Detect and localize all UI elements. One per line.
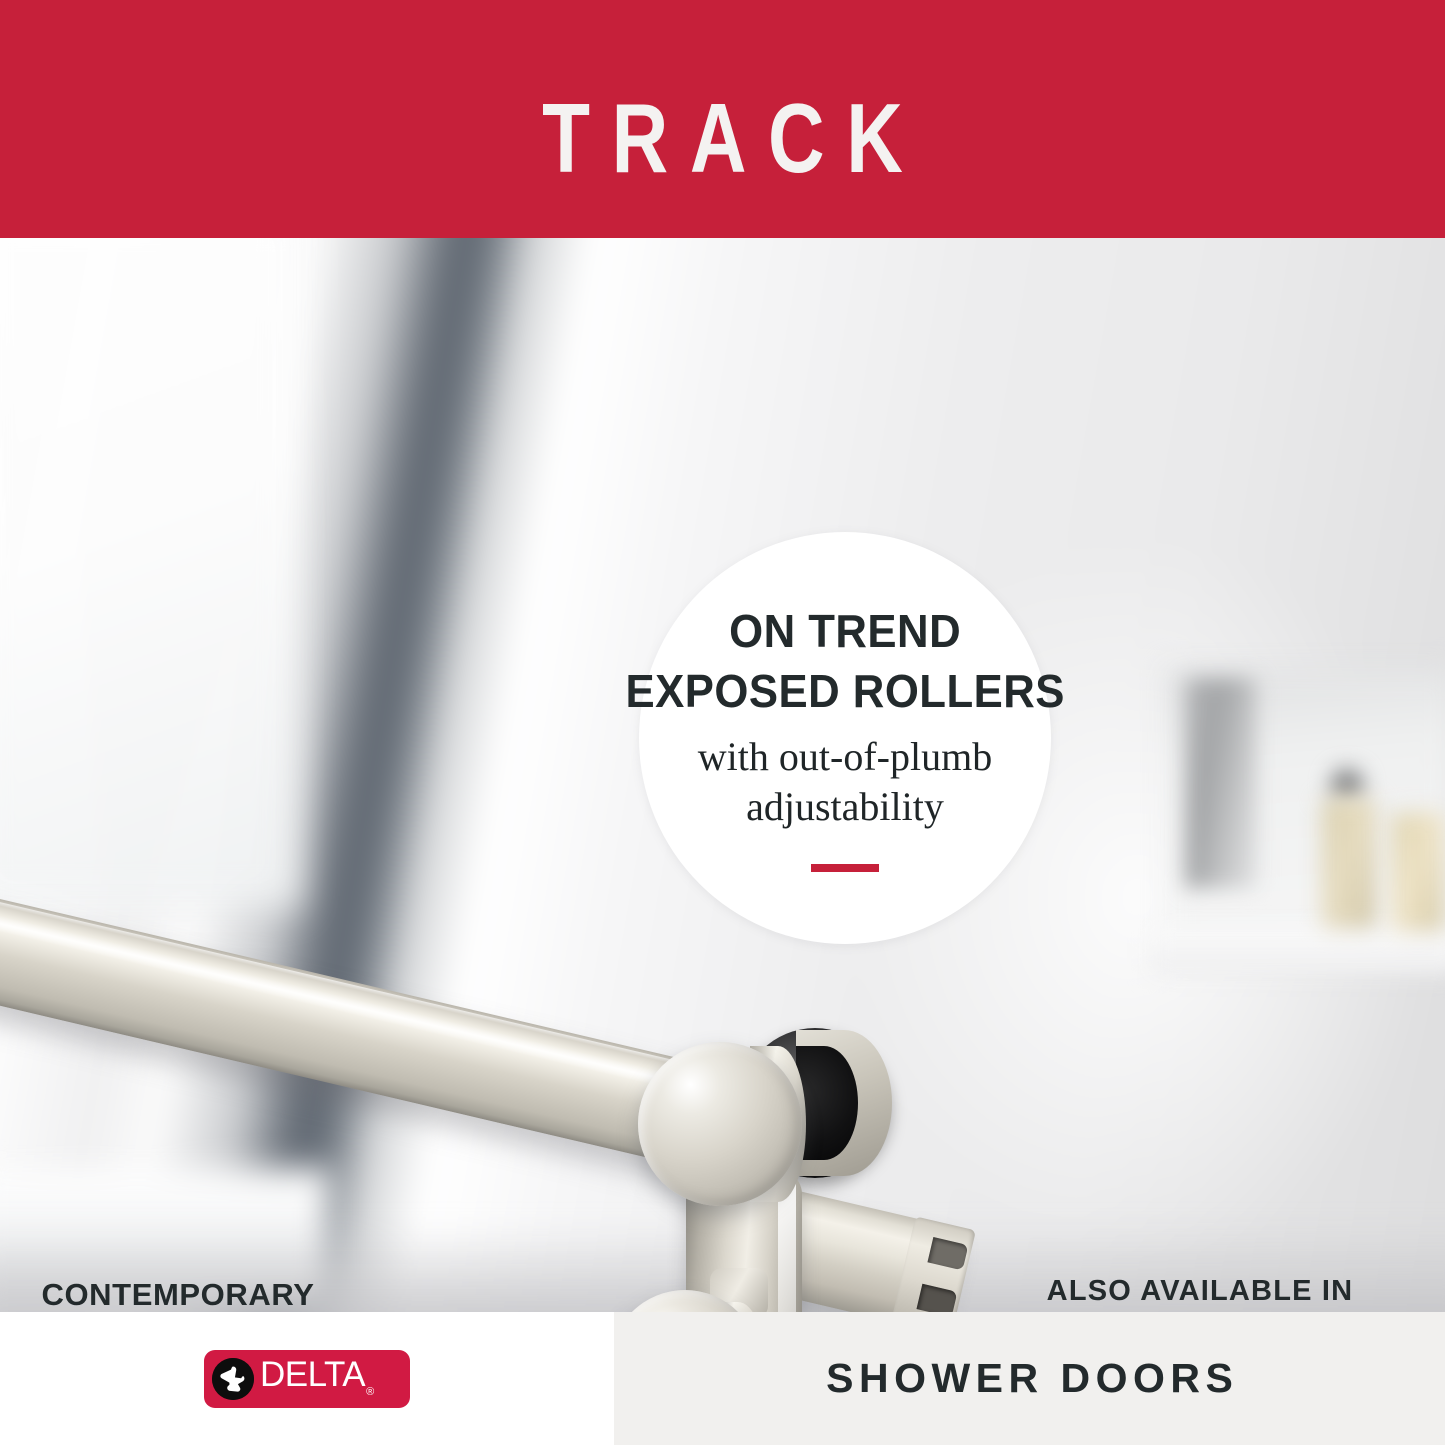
track-finish-caption: CONTEMPORARY TRACK IN BRUSHED NICKEL	[18, 1276, 338, 1312]
badge-subhead-line-2: adjustability	[746, 782, 944, 832]
finishes-title: ALSO AVAILABLE IN	[1000, 1274, 1400, 1308]
background-window	[0, 238, 300, 908]
feature-callout-badge: ON TREND EXPOSED ROLLERS with out-of-plu…	[639, 532, 1051, 944]
footer-brand-area: DELTA®	[0, 1312, 614, 1445]
background-bottle-amber-2	[1392, 813, 1444, 931]
badge-subhead-line-1: with out-of-plumb	[698, 732, 992, 782]
header-banner: TRACK	[0, 0, 1445, 238]
background-shelf	[1150, 928, 1445, 974]
badge-red-rule	[811, 864, 879, 872]
badge-headline-line-2: EXPOSED ROLLERS	[625, 664, 1064, 718]
exposed-roller-assembly	[600, 1020, 980, 1312]
upper-roller-disc	[638, 1042, 802, 1206]
background-bottle-amber-1	[1322, 798, 1376, 928]
delta-brand-text: DELTA	[260, 1355, 365, 1394]
background-bottle-cap	[1330, 768, 1364, 802]
page-title: TRACK	[145, 88, 1301, 188]
delta-wordmark: DELTA®	[260, 1357, 373, 1401]
delta-logo[interactable]: DELTA®	[204, 1350, 410, 1408]
badge-headline-line-1: ON TREND	[729, 604, 961, 658]
caption-line-1: CONTEMPORARY	[18, 1276, 338, 1312]
product-photo: ON TREND EXPOSED ROLLERS with out-of-plu…	[0, 238, 1445, 1312]
product-poster: TRACK	[0, 0, 1445, 1445]
background-bottle-large	[1185, 678, 1257, 888]
registered-trademark-icon: ®	[366, 1386, 374, 1398]
available-finishes: ALSO AVAILABLE IN CHROME BRONZE	[1000, 1274, 1400, 1312]
footer-tagline-area: SHOWER DOORS	[614, 1312, 1445, 1445]
footer-tagline: SHOWER DOORS	[821, 1355, 1239, 1402]
delta-triangle-icon	[212, 1358, 254, 1400]
footer: DELTA® SHOWER DOORS	[0, 1312, 1445, 1445]
